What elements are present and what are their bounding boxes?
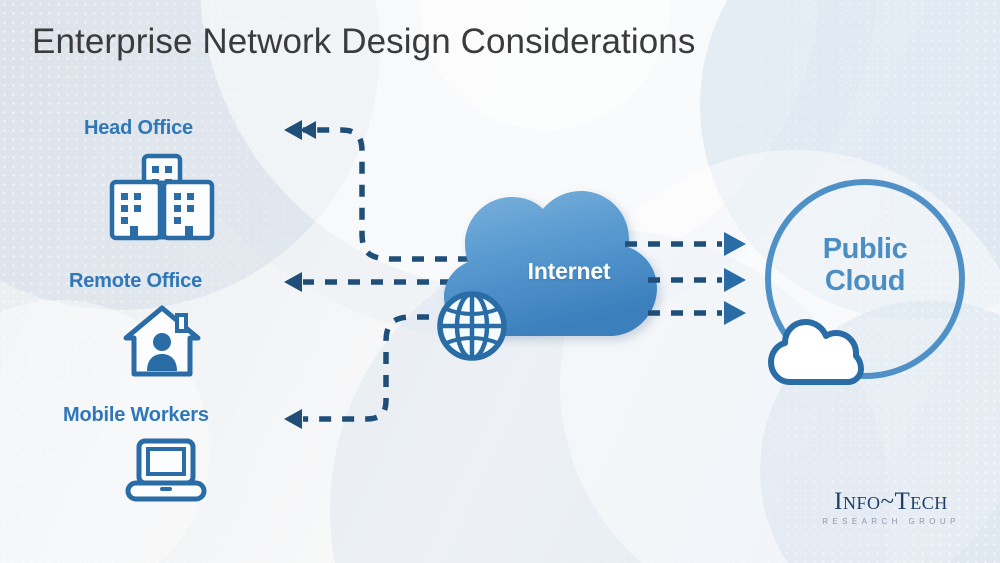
public-cloud-label-line1: Public xyxy=(823,233,908,265)
public-cloud-label-line2: Cloud xyxy=(825,265,905,297)
cloud-icon xyxy=(766,314,864,395)
office-buildings-icon xyxy=(106,152,218,249)
laptop-icon xyxy=(124,437,208,508)
house-person-icon xyxy=(120,302,204,385)
wire-cloud-to-public-1 xyxy=(625,232,746,256)
wire-cloud-to-public-2 xyxy=(648,268,746,292)
node-label-head-office: Head Office xyxy=(84,117,193,140)
logo-wordmark: Info~Tech xyxy=(806,489,976,514)
slide-canvas: Enterprise Network Design Considerations xyxy=(0,0,1000,563)
wire-mobile-workers xyxy=(284,317,452,429)
logo-tagline: RESEARCH GROUP xyxy=(806,517,976,526)
brand-logo: Info~Tech RESEARCH GROUP xyxy=(806,489,976,526)
internet-label: Internet xyxy=(489,258,649,285)
public-cloud-label: Public Cloud xyxy=(770,233,960,298)
globe-icon xyxy=(432,286,512,371)
wire-head-office xyxy=(284,120,470,259)
node-label-mobile-workers: Mobile Workers xyxy=(63,404,209,427)
wire-remote-office xyxy=(284,272,452,292)
wire-cloud-to-public-3 xyxy=(648,301,746,325)
node-label-remote-office: Remote Office xyxy=(69,270,202,293)
